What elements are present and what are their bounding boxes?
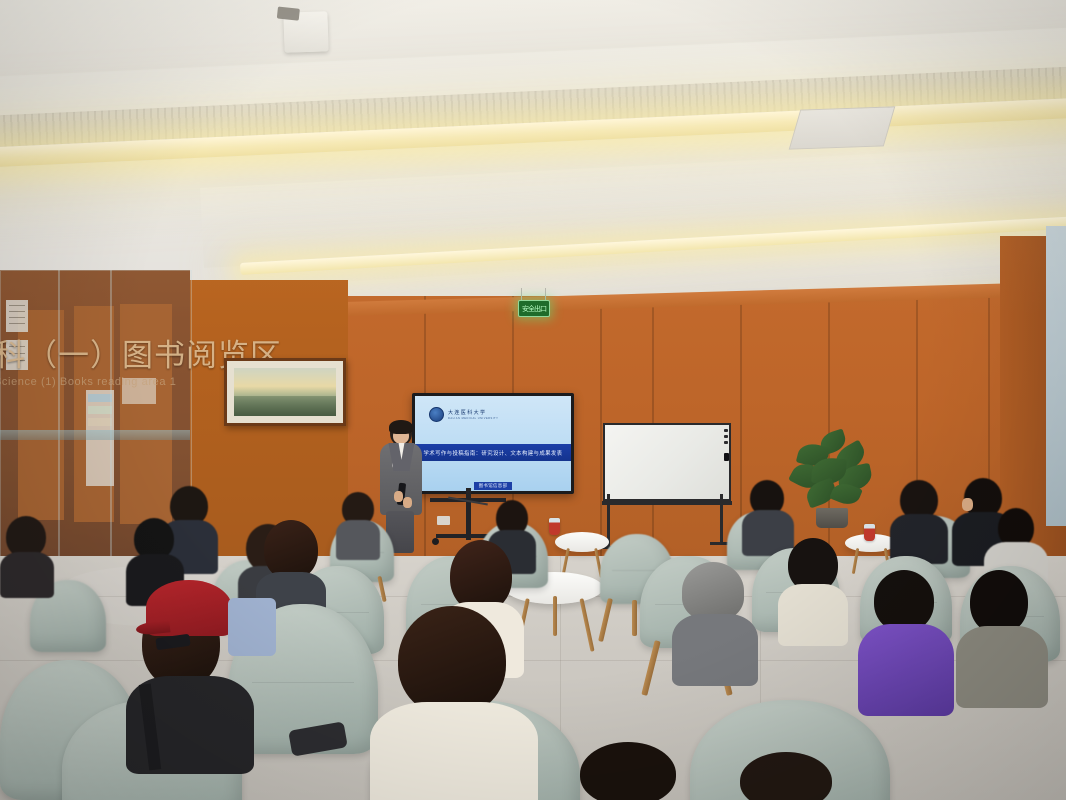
chair-leg bbox=[632, 600, 637, 636]
crest-icon bbox=[429, 407, 444, 422]
slide-title-banner: 学术写作与投稿指南：研究设计、文本构建与成果发表 bbox=[415, 444, 571, 461]
window-right bbox=[1046, 226, 1066, 526]
reading-area-signage: 科（一）图书阅览区 Science (1) Books reading area… bbox=[0, 330, 194, 388]
slide-title: 学术写作与投稿指南：研究设计、文本构建与成果发表 bbox=[424, 449, 563, 457]
logo-name-en: DALIAN MEDICAL UNIVERSITY bbox=[448, 417, 498, 420]
audience-member bbox=[716, 752, 866, 800]
audience-member bbox=[666, 566, 758, 606]
audience-member bbox=[370, 606, 538, 800]
potted-plant bbox=[790, 432, 874, 528]
slide-subtitle: 图书馆信息部 bbox=[474, 482, 513, 490]
audience-member bbox=[0, 516, 54, 586]
ceiling-vent bbox=[789, 106, 896, 149]
red-cap bbox=[146, 580, 232, 636]
wall-outlet[interactable] bbox=[437, 516, 450, 525]
framed-painting bbox=[224, 358, 346, 426]
ceiling-plane bbox=[0, 0, 1066, 78]
table-leg bbox=[553, 596, 557, 636]
audience-member bbox=[858, 570, 954, 710]
presentation-screen[interactable]: 大连医科大学 DALIAN MEDICAL UNIVERSITY 学术写作与投稿… bbox=[412, 393, 574, 494]
slide-content: 大连医科大学 DALIAN MEDICAL UNIVERSITY 学术写作与投稿… bbox=[415, 396, 571, 491]
slide-subtitle-row: 图书馆信息部 bbox=[415, 474, 571, 491]
audience-member bbox=[890, 480, 948, 554]
reading-area-label-cn: 科（一）图书阅览区 bbox=[0, 330, 194, 375]
audience-member bbox=[778, 538, 848, 638]
emergency-exit-sign: 安全出口 bbox=[518, 300, 550, 317]
audience-member bbox=[336, 492, 380, 552]
whiteboard-leg bbox=[720, 494, 723, 544]
exit-sign-label: 安全出口 bbox=[522, 304, 546, 314]
logo-name-cn: 大连医科大学 bbox=[448, 409, 498, 416]
tv-cart-wheel bbox=[432, 538, 439, 545]
tv-cart-post bbox=[466, 488, 471, 540]
raised-hand bbox=[962, 498, 973, 511]
audience-member bbox=[560, 742, 710, 800]
audience-member bbox=[228, 598, 276, 656]
whiteboard[interactable] bbox=[603, 423, 731, 501]
coffee-cup bbox=[549, 518, 560, 535]
coffee-cup bbox=[864, 524, 875, 541]
plant-pot bbox=[816, 508, 848, 528]
university-logo: 大连医科大学 DALIAN MEDICAL UNIVERSITY bbox=[429, 407, 498, 422]
lecture-room-photo: 安全出口 科（一）图书阅览区 Science (1) Books reading… bbox=[0, 0, 1066, 800]
reading-area-label-en: Science (1) Books reading area 1 bbox=[0, 376, 194, 388]
ceiling-speaker-icon bbox=[283, 11, 328, 53]
audience-member bbox=[956, 570, 1048, 700]
